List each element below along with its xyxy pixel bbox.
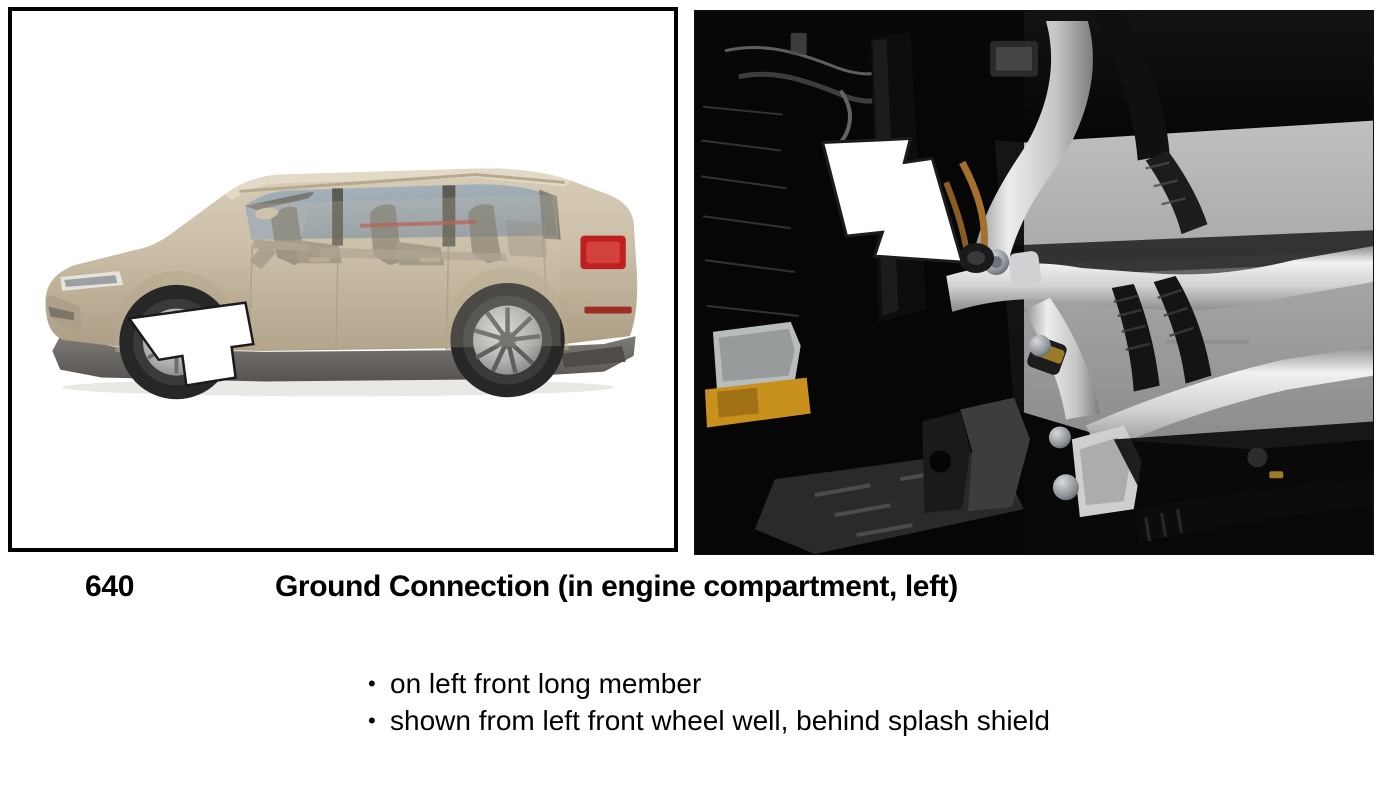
note-item: • shown from left front wheel well, behi… xyxy=(368,703,1190,739)
bracket-hole xyxy=(929,450,951,472)
component-title: Ground Connection (in engine compartment… xyxy=(275,570,958,604)
vehicle-locator-panel xyxy=(8,7,678,552)
metal-bracket-left-inner xyxy=(719,329,795,382)
shelf-brass-fitting xyxy=(1269,471,1283,478)
connector-block-upper xyxy=(791,33,807,55)
engine-bay-photograph xyxy=(695,11,1373,554)
connector-housing-face xyxy=(996,47,1032,71)
note-item: • on left front long member xyxy=(368,666,1190,702)
note-text: shown from left front wheel well, behind… xyxy=(390,705,1050,736)
engine-bay-photo-panel xyxy=(694,10,1374,555)
bullet-icon: • xyxy=(368,666,376,702)
ground-bolt-head xyxy=(967,251,985,265)
pipe-collar-upper xyxy=(1008,250,1042,288)
shelf-hole xyxy=(1247,447,1267,467)
vehicle-taillight-lens xyxy=(586,242,620,264)
component-number: 640 xyxy=(85,570,134,604)
pipe-bolt-lower xyxy=(1029,335,1051,357)
caption-row: 640 Ground Connection (in engine compart… xyxy=(0,570,1386,616)
joint-bolt-top xyxy=(1049,426,1071,448)
vehicle-side-view-illustration xyxy=(12,11,674,548)
bullet-icon: • xyxy=(368,703,376,739)
yellow-component-shadow xyxy=(717,388,759,418)
vehicle-ghost-overlay xyxy=(247,194,560,350)
joint-bolt-left xyxy=(1053,474,1079,500)
vehicle-rear-reflector xyxy=(584,307,631,314)
notes-list: • on left front long member • shown from… xyxy=(368,666,1208,740)
note-text: on left front long member xyxy=(390,668,701,699)
